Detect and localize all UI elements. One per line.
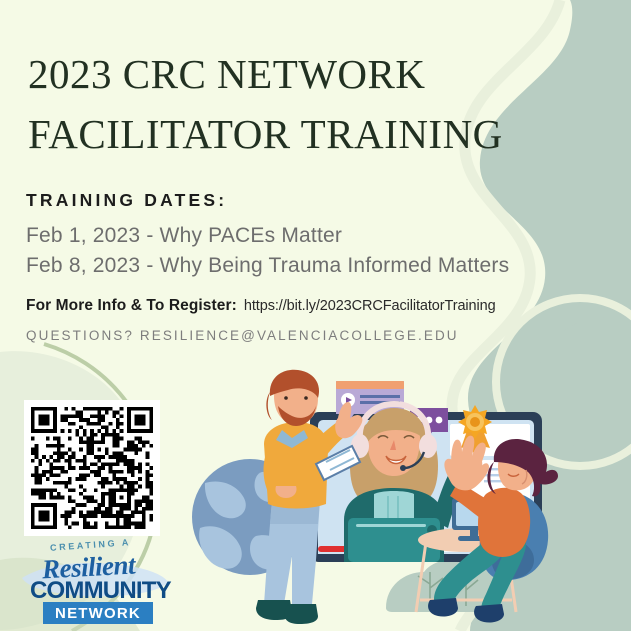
poster-canvas: 2023 CRC NETWORK FACILITATOR TRAINING TR…	[0, 0, 631, 631]
virtual-training-illustration	[0, 0, 631, 631]
